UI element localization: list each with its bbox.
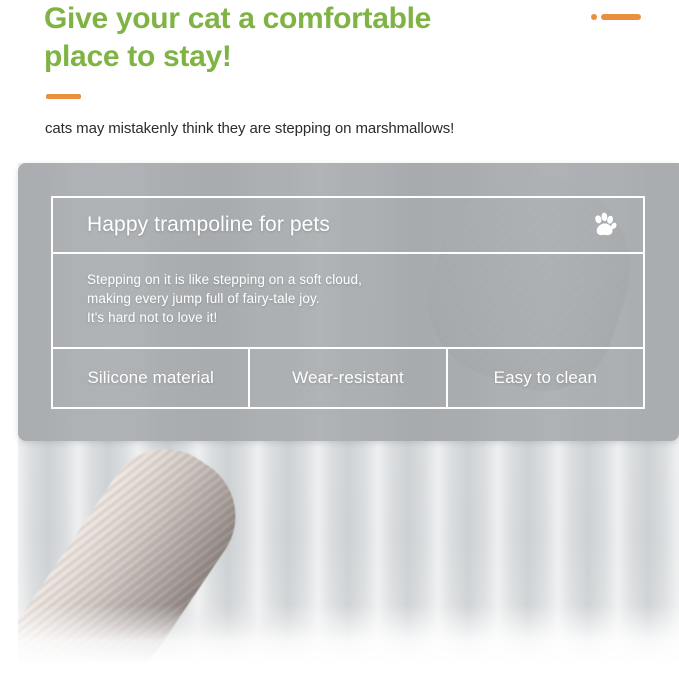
page-subtitle: cats may mistakenly think they are stepp… [45, 119, 454, 139]
card-title-row: Happy trampoline for pets [53, 198, 643, 254]
product-info-panel: Happy trampoline for pets Stepping on it… [18, 163, 679, 441]
orange-dot-icon [591, 14, 597, 20]
card-description: Stepping on it is like stepping on a sof… [53, 254, 643, 349]
feature-easy-to-clean: Easy to clean [446, 349, 643, 407]
title-underline-rule [46, 94, 81, 99]
card-description-line-3: It's hard not to love it! [87, 308, 643, 327]
feature-wear-resistant: Wear-resistant [248, 349, 445, 407]
paw-print-icon [591, 212, 617, 238]
card-description-line-1: Stepping on it is like stepping on a sof… [87, 270, 643, 289]
hero-floor-fade [18, 605, 679, 665]
card-feature-row: Silicone material Wear-resistant Easy to… [53, 349, 643, 407]
page-header: Give your cat a comfortable place to sta… [0, 0, 679, 163]
card-description-line-2: making every jump full of fairy-tale joy… [87, 289, 643, 308]
orange-bar-icon [601, 14, 641, 20]
page-title: Give your cat a comfortable place to sta… [44, 0, 564, 76]
feature-silicone-material: Silicone material [53, 349, 248, 407]
product-info-card: Happy trampoline for pets Stepping on it… [51, 196, 645, 409]
card-title: Happy trampoline for pets [87, 213, 330, 237]
